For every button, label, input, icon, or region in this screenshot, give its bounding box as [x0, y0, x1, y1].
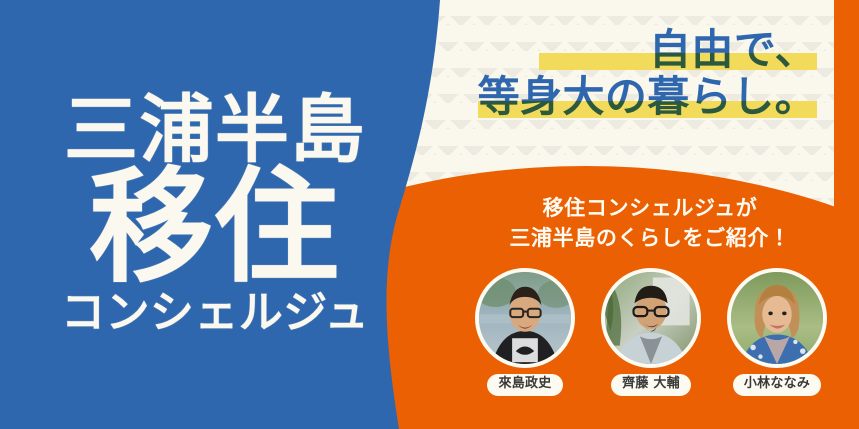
left-headline-block: 三浦半島 移住 コンシェルジュ	[0, 0, 430, 429]
headline-line-concierge: コンシェルジュ	[61, 291, 369, 335]
yellow-highlight-bar	[539, 53, 817, 70]
tagline-line-1: 自由で、	[478, 26, 817, 73]
concierge-person[interactable]: 小林ななみ	[722, 268, 832, 396]
avatar	[727, 268, 827, 368]
concierge-person[interactable]: 齊藤 大輔	[596, 268, 706, 396]
avatar	[475, 268, 575, 368]
tagline-block: 自由で、 等身大の暮らし。	[478, 26, 817, 120]
concierge-person[interactable]: 來島政史	[470, 268, 580, 396]
person-name: 小林ななみ	[733, 374, 821, 396]
migration-concierge-banner: 三浦半島 移住 コンシェルジュ 自由で、 等身大の暮らし。 移住コンシェルジュが…	[0, 0, 859, 429]
concierge-portrait-row: 來島政史	[470, 268, 832, 396]
headline-line-migration: 移住	[89, 165, 341, 291]
orange-section-copy: 移住コンシェルジュが 三浦半島のくらしをご紹介！	[466, 194, 834, 254]
yellow-highlight-bar	[478, 101, 817, 118]
person-name: 來島政史	[487, 374, 562, 396]
orange-copy-line-2: 三浦半島のくらしをご紹介！	[466, 224, 834, 254]
avatar	[601, 268, 701, 368]
orange-copy-line-1: 移住コンシェルジュが	[466, 194, 834, 224]
person-name: 齊藤 大輔	[611, 374, 691, 396]
tagline-line-2: 等身大の暮らし。	[478, 73, 817, 120]
